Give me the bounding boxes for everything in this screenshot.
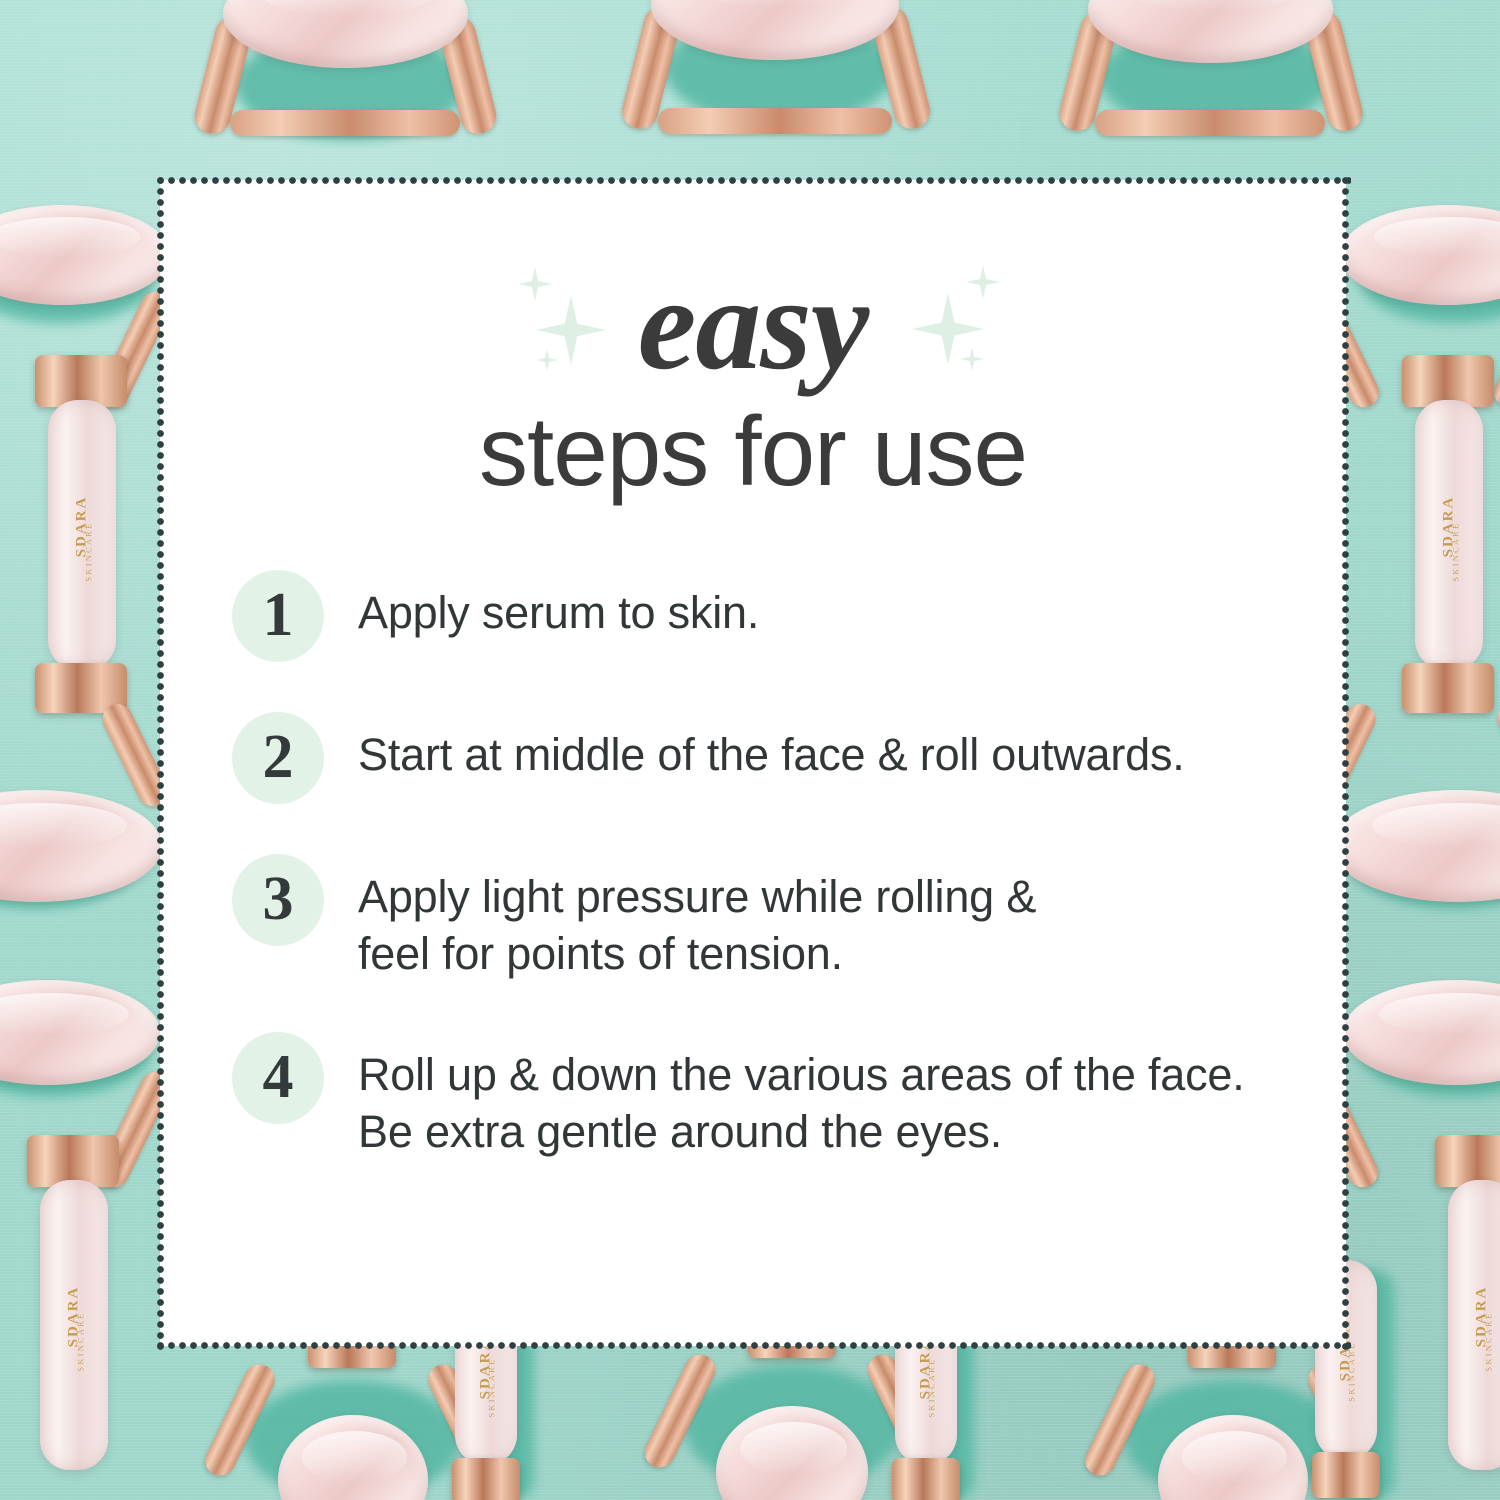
roller-handle: SDARA SKINCARE [48,400,116,670]
step-text-line: Be extra gentle around the eyes. [358,1103,1245,1160]
step-text-line: Apply light pressure while rolling & [358,868,1036,925]
step-item: 2 Start at middle of the face & roll out… [232,712,1332,804]
step-number-badge: 2 [232,712,324,804]
script-word-row: easy [160,255,1346,393]
headline-script: easy [638,250,869,397]
face-roller-right-mid [1320,790,1500,940]
brand-sublabel: SKINCARE [928,1368,937,1418]
step-number-badge: 4 [232,1032,324,1124]
step-text: Roll up & down the various areas of the … [358,1032,1245,1160]
sparkle-icon [912,293,984,365]
step-item: 4 Roll up & down the various areas of th… [232,1032,1332,1160]
sparkle-cluster-left [512,263,642,383]
brand-sublabel: SKINCARE [1485,1318,1494,1372]
brand-sublabel: SKINCARE [1452,528,1461,582]
sparkle-icon [966,265,1000,299]
sparkle-icon [536,295,606,365]
sparkle-icon [518,267,552,301]
step-number: 1 [263,584,294,646]
step-text-line: Start at middle of the face & roll outwa… [358,729,1185,780]
face-roller-left-mid [0,790,180,940]
headline-block: easy steps for use [160,255,1346,503]
step-number: 4 [263,1046,294,1108]
face-roller-top-3 [1060,0,1360,170]
face-roller-left-lower: SDARA SKINCARE [0,975,185,1495]
step-number: 2 [263,726,294,788]
steps-list: 1 Apply serum to skin. 2 Start at middle… [232,570,1332,1160]
brand-sublabel: SKINCARE [85,528,94,582]
brand-sublabel: SKINCARE [1348,1352,1357,1402]
face-roller-top-2 [625,0,925,165]
step-item: 3 Apply light pressure while rolling & f… [232,854,1332,982]
face-roller-top-1 [195,0,495,170]
step-text-line: feel for points of tension. [358,925,1036,982]
sparkle-icon [536,349,558,371]
step-number: 3 [263,868,294,930]
step-text-line: Roll up & down the various areas of the … [358,1046,1245,1103]
step-number-badge: 1 [232,570,324,662]
step-text-line: Apply serum to skin. [358,587,759,638]
headline-subtitle: steps for use [160,399,1346,503]
sparkle-icon [960,347,984,371]
infographic-canvas: SDARA SKINCARE SDARA SKINCARE SDARA SKIN… [0,0,1500,1500]
sparkle-cluster-right [908,259,1038,384]
step-item: 1 Apply serum to skin. [232,570,1332,662]
brand-sublabel: SKINCARE [488,1368,497,1418]
step-text: Apply serum to skin. [358,570,759,641]
face-roller-right-upper: SDARA SKINCARE [1330,195,1500,755]
step-number-badge: 3 [232,854,324,946]
step-text: Start at middle of the face & roll outwa… [358,712,1185,783]
brand-sublabel: SKINCARE [77,1318,86,1372]
step-text: Apply light pressure while rolling & fee… [358,854,1036,982]
face-roller-left-upper: SDARA SKINCARE [0,195,175,755]
